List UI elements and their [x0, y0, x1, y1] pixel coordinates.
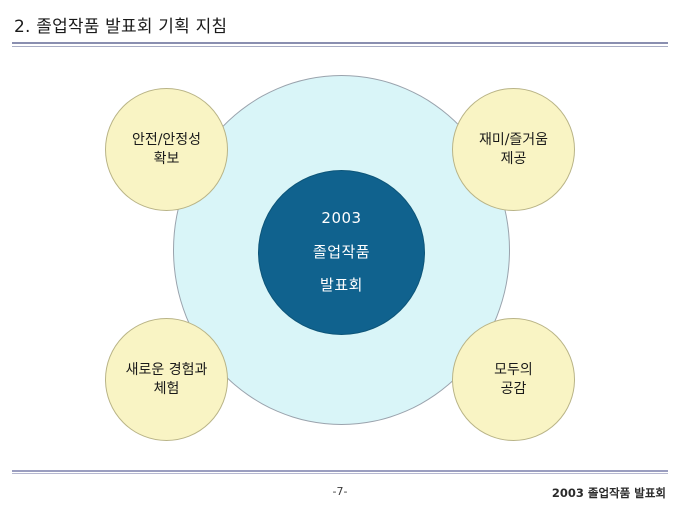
- node-top-left-line-2: 확보: [154, 150, 180, 169]
- center-line-1: 2003: [321, 211, 361, 227]
- footer-divider-thin: [12, 473, 668, 474]
- node-bottom-right-line-1: 모두의: [494, 361, 533, 380]
- node-circle-top-left: 안전/안정성 확보: [105, 88, 228, 211]
- slide: 2. 졸업작품 발표회 기획 지침 2003 졸업작품 발표회 안전/안정성 확…: [0, 0, 680, 510]
- center-line-2: 졸업작품: [313, 245, 370, 261]
- center-line-3: 발표회: [320, 278, 363, 294]
- node-circle-top-right: 재미/즐거움 제공: [452, 88, 575, 211]
- header-divider-thin: [12, 46, 668, 47]
- node-bottom-right-line-2: 공감: [501, 380, 527, 399]
- concept-diagram: 2003 졸업작품 발표회 안전/안정성 확보 재미/즐거움 제공 새로운 경험…: [0, 50, 680, 465]
- node-top-right-line-1: 재미/즐거움: [479, 131, 548, 150]
- node-bottom-left-line-2: 체험: [154, 380, 180, 399]
- page-title: 2. 졸업작품 발표회 기획 지침: [14, 12, 227, 37]
- center-circle: 2003 졸업작품 발표회: [258, 170, 425, 335]
- node-top-left-line-1: 안전/안정성: [132, 131, 201, 150]
- node-top-right-line-2: 제공: [501, 150, 527, 169]
- node-bottom-left-line-1: 새로운 경험과: [126, 361, 208, 380]
- node-circle-bottom-right: 모두의 공감: [452, 318, 575, 441]
- footer-divider-thick: [12, 470, 668, 472]
- header-divider-thick: [12, 42, 668, 44]
- node-circle-bottom-left: 새로운 경험과 체험: [105, 318, 228, 441]
- footer-note: 2003 졸업작품 발표회: [552, 485, 666, 501]
